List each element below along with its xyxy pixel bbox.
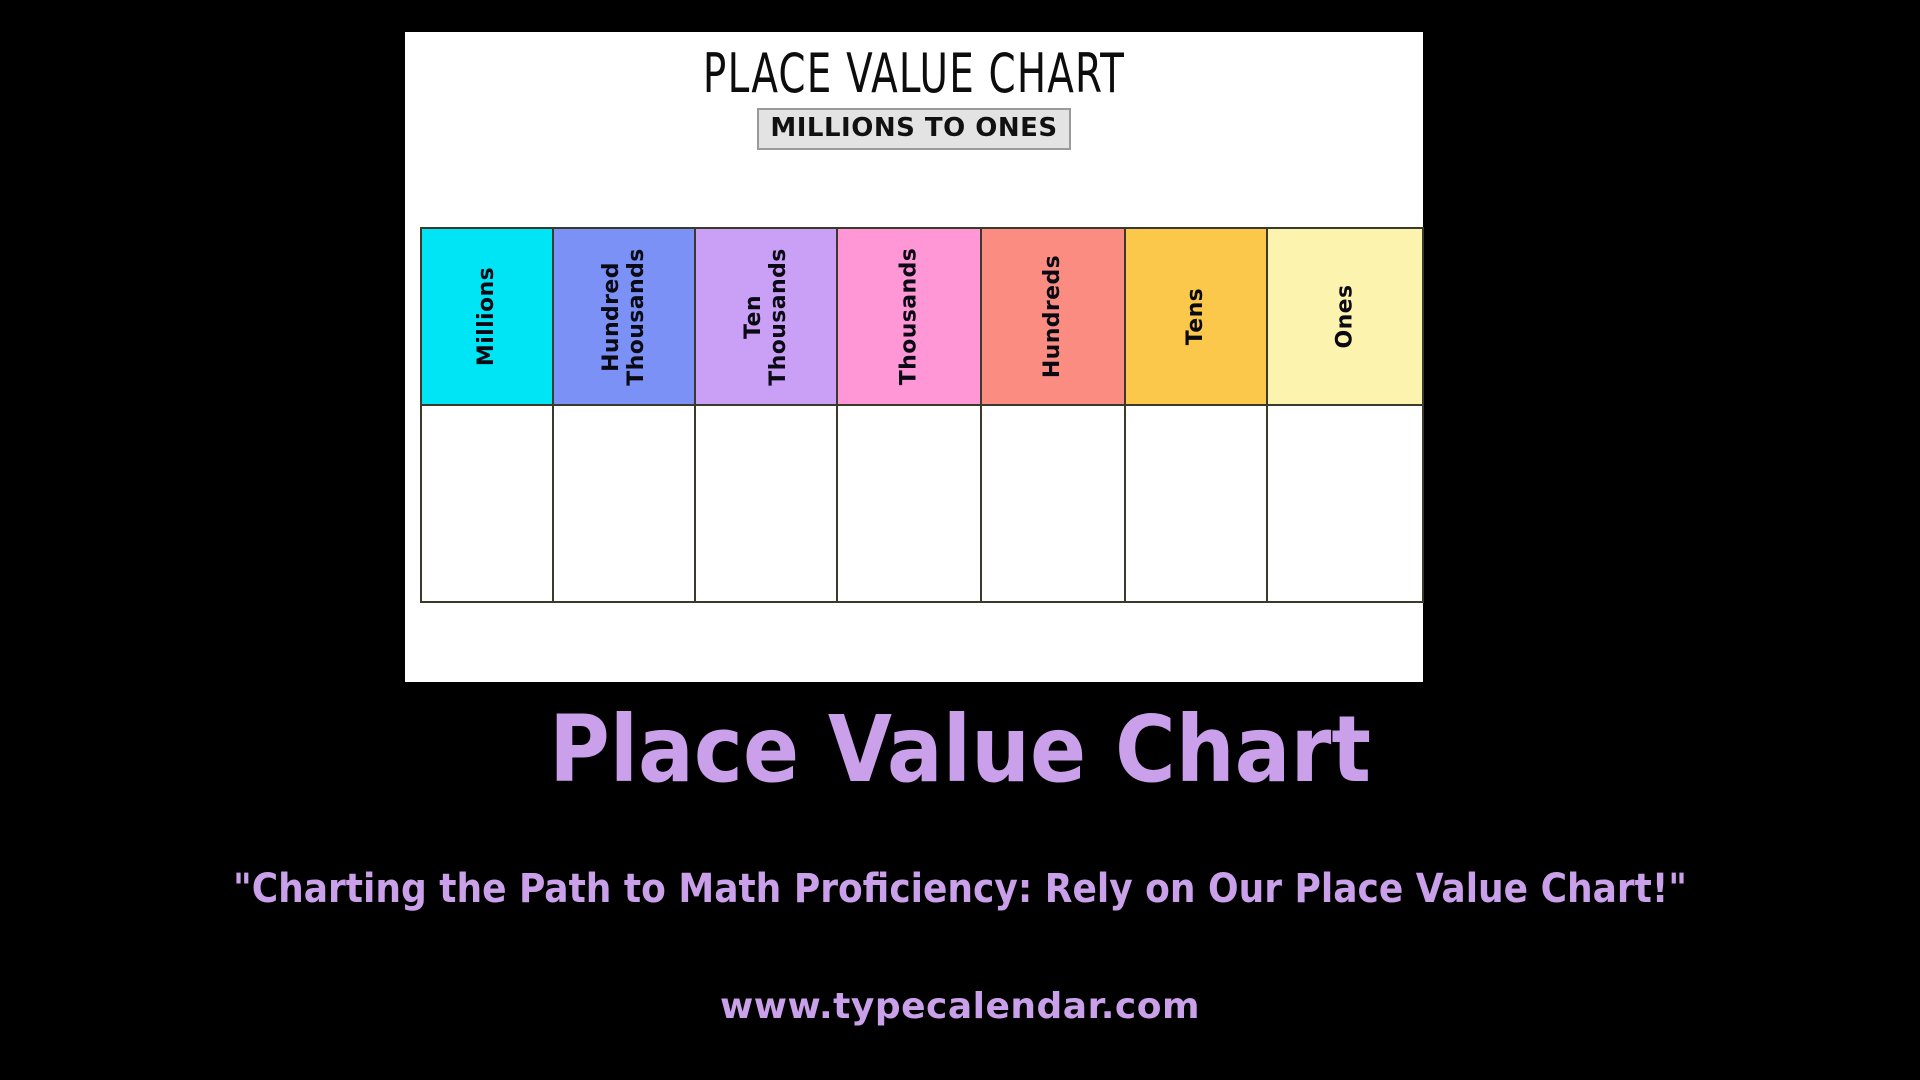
answer-cell-hundreds[interactable] <box>981 405 1125 602</box>
subtitle-badge: MILLIONS TO ONES <box>757 108 1070 150</box>
column-header-tens[interactable]: Tens <box>1125 228 1267 405</box>
card-header: PLACE VALUE CHART MILLIONS TO ONES <box>405 32 1423 150</box>
column-header-thousands[interactable]: Thousands <box>837 228 981 405</box>
column-header-label: Ones <box>1332 285 1357 349</box>
poster-tagline: "Charting the Path to Math Proficiency: … <box>0 865 1920 913</box>
answer-cell-tens[interactable] <box>1125 405 1267 602</box>
column-header-label: Hundreds <box>1041 255 1066 378</box>
poster-url[interactable]: www.typecalendar.com <box>0 985 1920 1029</box>
column-header-ones[interactable]: Ones <box>1267 228 1423 405</box>
column-header-ten-thousands[interactable]: Ten Thousands <box>695 228 837 405</box>
answer-cell-ones[interactable] <box>1267 405 1423 602</box>
place-value-table: Millions Hundred Thousands Ten Thousands… <box>420 227 1424 603</box>
table-row <box>421 405 1423 602</box>
column-header-hundred-thousands[interactable]: Hundred Thousands <box>553 228 695 405</box>
subtitle-wrapper: MILLIONS TO ONES <box>405 108 1423 150</box>
answer-cell-millions[interactable] <box>421 405 553 602</box>
table-header-row: Millions Hundred Thousands Ten Thousands… <box>421 228 1423 405</box>
column-header-label: Millions <box>474 267 499 366</box>
column-header-millions[interactable]: Millions <box>421 228 553 405</box>
page-title: PLACE VALUE CHART <box>507 32 1321 104</box>
column-header-label: Hundred Thousands <box>599 248 649 386</box>
column-header-hundreds[interactable]: Hundreds <box>981 228 1125 405</box>
column-header-label: Ten Thousands <box>741 248 791 386</box>
answer-cell-hundred-thousands[interactable] <box>553 405 695 602</box>
column-header-label: Tens <box>1184 288 1209 345</box>
poster-heading: Place Value Chart <box>0 700 1920 800</box>
worksheet-card: PLACE VALUE CHART MILLIONS TO ONES Milli… <box>405 32 1423 682</box>
answer-cell-ten-thousands[interactable] <box>695 405 837 602</box>
column-header-label: Thousands <box>897 248 922 386</box>
answer-cell-thousands[interactable] <box>837 405 981 602</box>
